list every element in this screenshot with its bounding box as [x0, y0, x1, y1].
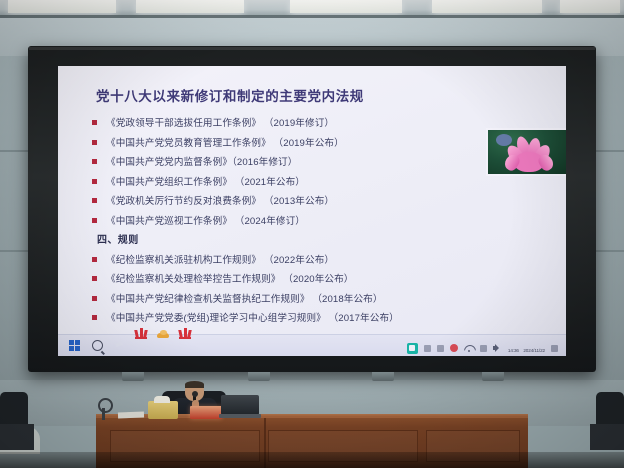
bullet-text: 《中国共产党党委(党组)理论学习中心组学习规则》 （2017年公布） [106, 309, 399, 329]
section-heading: 四、规则 [92, 231, 139, 251]
ceiling-light [8, 0, 116, 13]
system-tray: 14:36 2024/11/22 [407, 339, 558, 356]
presentation-slide: 党十八大以来新修订和制定的主要党内法规 《党政领导干部选拔任用工作条例 [58, 66, 566, 334]
ceiling-light [560, 0, 620, 13]
bullet-text: 《中国共产党巡视工作条例》 （2024年修订） [106, 212, 305, 232]
wps-presentation-icon[interactable] [179, 339, 192, 352]
bullet-text: 《党政领导干部选拔任用工作条例》 （2019年修订） [106, 114, 334, 134]
tray-app-icon[interactable] [407, 343, 418, 354]
slide-title: 党十八大以来新修订和制定的主要党内法规 [96, 85, 516, 105]
bullet-text: 《中国共产党纪律检查机关监督执纪工作规则》 （2018年公布） [106, 290, 383, 310]
windows-taskbar: 14:36 2024/11/22 [58, 334, 566, 356]
list-item: 《纪检监察机关处理检举控告工作规则》 （2020年公布） [92, 270, 492, 290]
bullet-text: 《纪检监察机关处理检举控告工作规则》 （2020年公布） [106, 270, 353, 290]
bullet-square-icon [92, 198, 97, 203]
bullet-square-icon [92, 179, 97, 184]
bullet-square-icon [92, 159, 97, 164]
flower-bud [496, 134, 512, 146]
taskbar-app-area [69, 339, 192, 352]
bullet-square-icon [92, 257, 97, 262]
display-mount [372, 372, 394, 381]
list-item: 《纪检监察机关派驻机构工作规则》 （2022年公布） [92, 251, 492, 271]
tray-pen-icon[interactable] [424, 345, 431, 352]
display-mount [482, 372, 504, 381]
lecture-room-scene: 党十八大以来新修订和制定的主要党内法规 《党政领导干部选拔任用工作条例 [0, 0, 624, 468]
display-mount [122, 372, 144, 381]
start-button[interactable] [69, 339, 82, 352]
screen-content: 党十八大以来新修订和制定的主要党内法规 《党政领导干部选拔任用工作条例 [58, 66, 566, 356]
chair-right-base [590, 424, 624, 450]
wall-display: 党十八大以来新修订和制定的主要党内法规 《党政领导干部选拔任用工作条例 [28, 46, 596, 372]
tissue-box [148, 401, 178, 419]
bullet-square-icon [92, 218, 97, 223]
list-item: 《党政机关厉行节约反对浪费条例》 （2013年公布） [92, 192, 492, 212]
taskbar-clock[interactable]: 14:36 2024/11/22 [508, 339, 545, 356]
list-item: 《中国共产党纪律检查机关监督执纪工作规则》 （2018年公布） [92, 290, 492, 310]
tray-alert-icon[interactable] [450, 344, 458, 352]
bullet-text: 《中国共产党党员教育管理工作条例》 （2019年公布） [106, 134, 344, 154]
clock-time: 14:36 [508, 348, 519, 353]
list-item: 《中国共产党党内监督条例》（2016年修订） [92, 153, 492, 173]
slide-bullet-list: 《党政领导干部选拔任用工作条例》 （2019年修订） 《中国共产党党员教育管理工… [92, 114, 492, 329]
presenter-hair [185, 381, 204, 388]
bullet-square-icon [92, 140, 97, 145]
bullet-square-icon [92, 120, 97, 125]
notification-icon[interactable] [551, 345, 558, 352]
wps-writer-icon[interactable] [135, 339, 148, 352]
bullet-text: 《中国共产党组织工作条例》 （2021年公布） [106, 173, 305, 193]
papers [118, 412, 144, 419]
list-item: 《中国共产党巡视工作条例》 （2024年修订） [92, 212, 492, 232]
laptop-screen [221, 395, 259, 415]
red-book [190, 406, 222, 419]
list-item: 《中国共产党组织工作条例》 （2021年公布） [92, 173, 492, 193]
laptop-base [219, 414, 261, 418]
bullet-text: 《纪检监察机关派驻机构工作规则》 （2022年公布） [106, 251, 334, 271]
list-item: 《中国共产党党员教育管理工作条例》 （2019年公布） [92, 134, 492, 154]
wifi-icon[interactable] [464, 344, 474, 352]
foreground-shadow [0, 452, 624, 468]
tray-dot-icon[interactable] [437, 345, 444, 352]
volume-icon[interactable] [493, 344, 502, 352]
laptop [219, 395, 261, 419]
chair-left-base [0, 424, 34, 450]
search-icon[interactable] [91, 339, 104, 352]
ceiling-light [290, 0, 402, 13]
bullet-square-icon [92, 276, 97, 281]
bezel-highlight [29, 47, 595, 50]
ceiling-light [432, 0, 542, 13]
list-item: 《中国共产党党委(党组)理论学习中心组学习规则》 （2017年公布） [92, 309, 492, 329]
bullet-text: 《中国共产党党内监督条例》（2016年修订） [106, 153, 297, 173]
desk-lamp [98, 398, 110, 420]
section-heading-row: 四、规则 [92, 231, 492, 251]
cloud-icon[interactable] [157, 339, 170, 352]
edge-icon[interactable] [113, 339, 126, 352]
bullet-square-icon [92, 315, 97, 320]
ceiling [0, 0, 624, 16]
display-mount [248, 372, 270, 381]
bullet-text: 《党政机关厉行节约反对浪费条例》 （2013年公布） [106, 192, 334, 212]
clock-date: 2024/11/22 [523, 348, 545, 353]
battery-icon[interactable] [480, 345, 487, 352]
bullet-square-icon [92, 296, 97, 301]
lotus-flower-image [486, 128, 566, 176]
list-item: 《党政领导干部选拔任用工作条例》 （2019年修订） [92, 114, 492, 134]
ceiling-light [136, 0, 244, 13]
